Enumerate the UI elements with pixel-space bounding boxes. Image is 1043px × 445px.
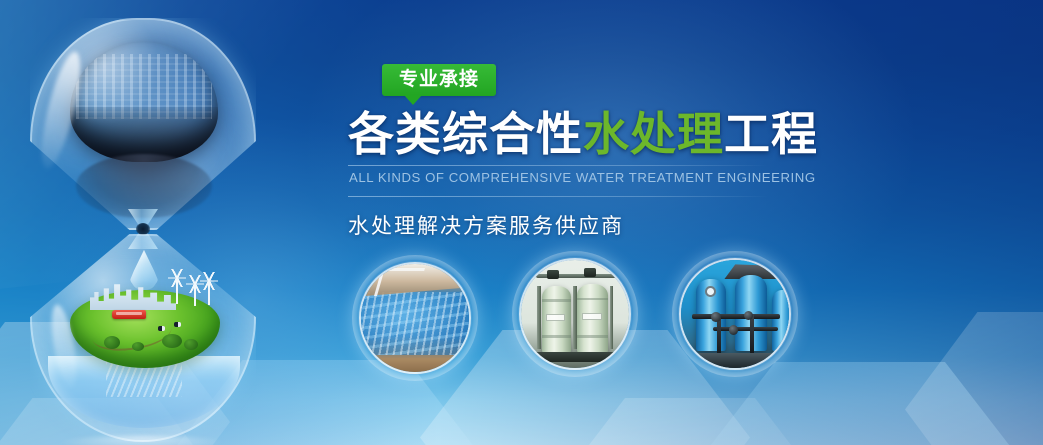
flange-icon	[729, 325, 739, 335]
tank-band	[577, 335, 608, 338]
pipe-horizontal	[692, 314, 781, 319]
cow-icon	[158, 326, 165, 331]
wind-turbine-icon	[176, 278, 178, 304]
pipe-vertical	[573, 286, 577, 349]
banner-copy: 专业承接 各类综合性水处理工程 ALL KINDS OF COMPREHENSI…	[348, 64, 768, 240]
english-tagline: ALL KINDS OF COMPREHENSIVE WATER TREATME…	[348, 166, 768, 191]
polluted-city-reflection	[76, 154, 212, 218]
specialty-badge-label: 专业承接	[399, 69, 479, 90]
polluted-city-graphic	[70, 42, 218, 162]
tank-band	[542, 299, 571, 302]
tank-band	[577, 298, 608, 301]
filter-tanks-photo	[521, 260, 629, 368]
photo-frame	[679, 258, 791, 370]
train-icon	[112, 310, 146, 319]
tank-label	[546, 314, 565, 321]
headline-part-1: 各类综合性	[348, 108, 583, 160]
photo-circle-pool[interactable]	[352, 255, 478, 381]
headline-part-2: 水处理	[583, 108, 724, 160]
photo-frame	[519, 258, 631, 370]
pipe-vertical	[750, 314, 754, 355]
flange-icon	[711, 312, 721, 322]
valve-icon	[584, 268, 596, 278]
photo-frame	[359, 262, 471, 374]
hourglass-neck-shadow	[136, 223, 150, 235]
tree-icon	[162, 334, 182, 348]
divider-bottom	[348, 196, 768, 197]
tree-icon	[132, 342, 144, 351]
pipe-vertical	[537, 286, 541, 349]
specialty-badge: 专业承接	[382, 64, 496, 96]
tank-base	[532, 352, 618, 362]
wind-turbine-icon	[208, 281, 210, 305]
hourglass-illustration	[8, 4, 278, 445]
pressure-gauge-icon	[705, 286, 716, 297]
hero-banner: 专业承接 各类综合性水处理工程 ALL KINDS OF COMPREHENSI…	[0, 0, 1043, 445]
tree-icon	[104, 336, 120, 349]
pool-rail-graphic	[374, 268, 425, 296]
tree-icon	[184, 339, 198, 350]
photo-circle-bluetanks[interactable]	[672, 251, 798, 377]
pipe-vertical	[610, 286, 614, 349]
blue-tank	[772, 290, 791, 350]
page-title: 各类综合性水处理工程	[348, 108, 768, 160]
blue-tanks-photo	[681, 260, 789, 368]
tank-band	[542, 335, 571, 338]
filter-tank	[577, 284, 608, 353]
cow-icon	[174, 322, 181, 327]
valve-icon	[547, 270, 559, 280]
pipe-horizontal	[713, 327, 778, 331]
hourglass-base-reflection	[52, 436, 232, 445]
photo-circle-filters[interactable]	[512, 251, 638, 377]
photo-circle-group	[352, 249, 812, 389]
floor-graphic	[681, 353, 789, 368]
filter-tank	[542, 286, 571, 353]
wind-turbine-icon	[194, 284, 196, 306]
tank-label	[582, 313, 602, 321]
subtitle: 水处理解决方案服务供应商	[348, 214, 768, 240]
headline-part-3: 工程	[724, 108, 818, 160]
